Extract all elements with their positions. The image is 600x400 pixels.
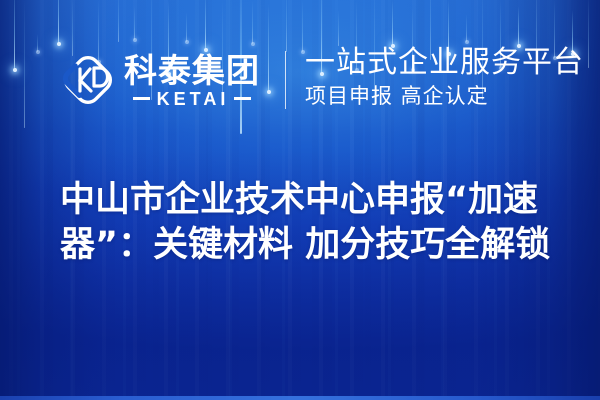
dash-right-icon [234, 97, 251, 100]
brand-wordmark: 科泰集团 KETAI [124, 50, 260, 110]
light-streak [252, 0, 253, 44]
promo-banner: 科泰集团 KETAI 一站式企业服务平台 项目申报 高企认定 中山市企业技术中心… [0, 0, 600, 400]
light-streak [186, 12, 187, 42]
tagline-secondary: 项目申报 高企认定 [305, 82, 565, 110]
brand-name-en-row: KETAI [124, 90, 260, 108]
light-streak [518, 6, 519, 46]
brand-tagline: 一站式企业服务平台 项目申报 高企认定 [305, 44, 565, 110]
light-streak-dot [36, 50, 40, 54]
light-streak [588, 0, 589, 68]
brand-name-en: KETAI [150, 90, 235, 108]
light-streak [286, 0, 287, 52]
dash-left-icon [133, 97, 150, 100]
brand-logo[interactable]: 科泰集团 KETAI [60, 44, 260, 116]
light-streak [302, 0, 303, 52]
light-streak [134, 6, 135, 40]
brand-name-cn: 科泰集团 [124, 53, 260, 89]
light-streak [205, 0, 206, 50]
light-streak-dot [267, 90, 271, 94]
bottom-edge-highlight [0, 396, 600, 400]
page-title: 中山市企业技术中心申报“加速器”：关键材料 加分技巧全解锁 [60, 178, 580, 268]
light-streak [338, 10, 339, 46]
light-streak-dot [301, 50, 305, 54]
light-streak [466, 14, 467, 42]
light-streak [268, 4, 269, 92]
light-streak-dot [13, 68, 17, 72]
ketai-monogram-badge-icon [60, 52, 116, 108]
header-divider [285, 51, 286, 109]
light-streak [58, 0, 59, 44]
light-streak-dot [133, 38, 137, 42]
light-streak [118, 0, 119, 42]
light-streak [14, 0, 15, 70]
light-streak [392, 0, 393, 46]
tagline-primary: 一站式企业服务平台 [305, 44, 565, 82]
light-streak [24, 0, 25, 128]
